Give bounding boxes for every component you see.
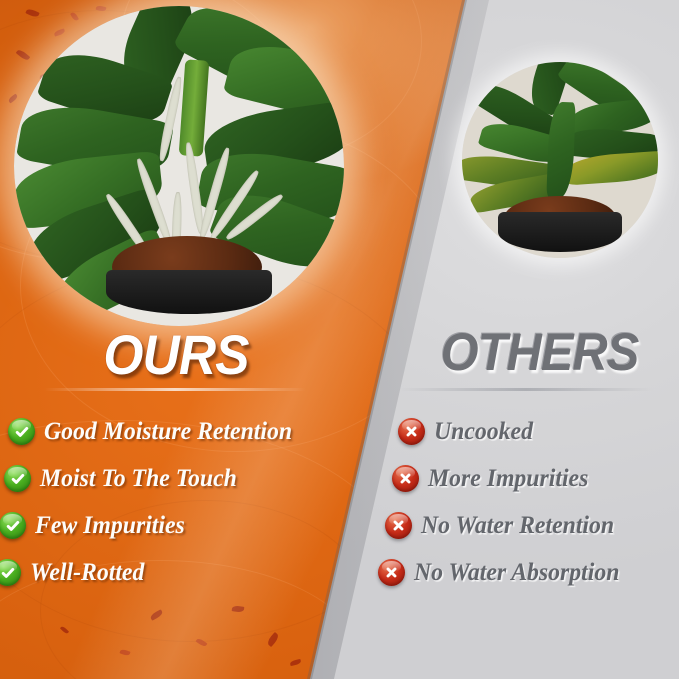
others-feature-list: Uncooked More Impurities No Water Retent… [386, 408, 676, 596]
list-item: Moist To The Touch [4, 455, 368, 502]
list-item: No Water Retention [385, 502, 676, 549]
others-heading-rule [398, 388, 653, 391]
list-item: No Water Absorption [378, 549, 676, 596]
check-badge-icon [0, 559, 21, 586]
list-item: More Impurities [392, 455, 676, 502]
list-item-label: Good Moisture Retention [44, 418, 292, 446]
list-item-label: No Water Absorption [414, 559, 619, 587]
list-item-label: More Impurities [428, 465, 588, 493]
cross-badge-icon [378, 559, 405, 586]
ours-heading: OURS [14, 322, 338, 387]
others-heading: OTHERS [411, 322, 668, 383]
cross-badge-icon [385, 512, 412, 539]
list-item: Uncooked [398, 408, 676, 455]
cross-badge-icon [392, 465, 419, 492]
check-badge-icon [8, 418, 35, 445]
list-item-label: Uncooked [434, 418, 533, 446]
list-item: Few Impurities [0, 502, 368, 549]
list-item-label: Well-Rotted [30, 559, 144, 587]
comparison-infographic: OURS OTHERS Good Moisture Retention Mois… [0, 0, 679, 679]
others-product-photo [462, 62, 658, 258]
ours-product-photo [14, 6, 344, 326]
check-badge-icon [0, 512, 26, 539]
check-badge-icon [4, 465, 31, 492]
list-item-label: Moist To The Touch [40, 465, 237, 493]
list-item: Well-Rotted [0, 549, 368, 596]
list-item-label: Few Impurities [35, 512, 185, 540]
list-item: Good Moisture Retention [8, 408, 368, 455]
cross-badge-icon [398, 418, 425, 445]
ours-heading-rule [44, 388, 306, 391]
list-item-label: No Water Retention [421, 512, 614, 540]
ours-feature-list: Good Moisture Retention Moist To The Tou… [8, 408, 368, 596]
